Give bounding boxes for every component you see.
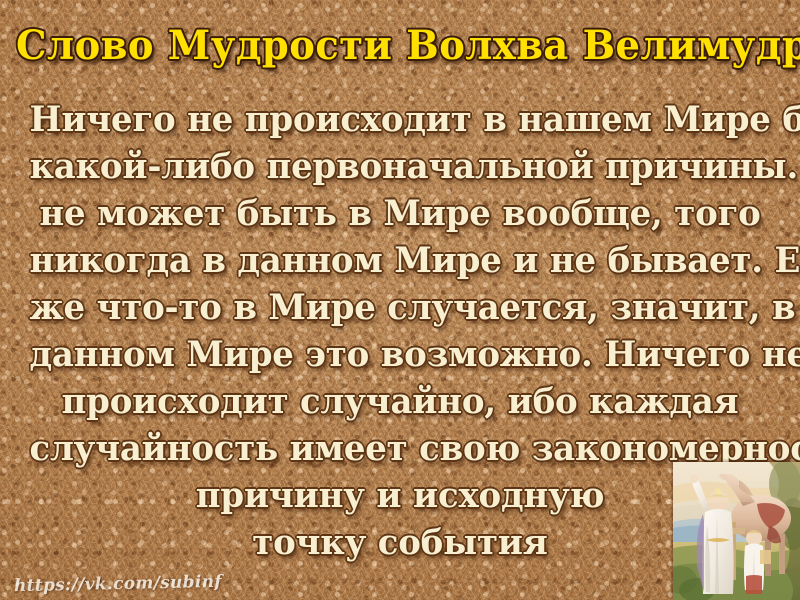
- quote-line: причину и исходную: [29, 472, 770, 519]
- quote-line: же что-то в Мире случается, значит, в: [29, 284, 770, 331]
- quote-line: никогда в данном Мире и не бывает. Если: [29, 237, 770, 284]
- quote-line: какой-либо первоначальной причины. Чего: [29, 143, 770, 190]
- quote-line: не может быть в Мире вообще, того: [29, 190, 770, 237]
- quote-line: точку события: [29, 519, 770, 566]
- quote-text-block: Ничего не происходит в нашем Мире без ка…: [18, 96, 782, 566]
- quote-line: Ничего не происходит в нашем Мире без: [29, 96, 770, 143]
- quote-line: происходит случайно, ибо каждая: [29, 378, 770, 425]
- wisdom-quote-poster: Слово Мудрости Волхва Велимудра Ничего н…: [0, 0, 800, 600]
- quote-line: случайность имеет свою закономерность,: [29, 425, 770, 472]
- elder-sage-painting-image: [673, 462, 800, 600]
- page-title: Слово Мудрости Волхва Велимудра: [16, 24, 784, 68]
- quote-line: данном Мире это возможно. Ничего не: [29, 331, 770, 378]
- source-watermark: https://vk.com/subinf: [14, 572, 222, 596]
